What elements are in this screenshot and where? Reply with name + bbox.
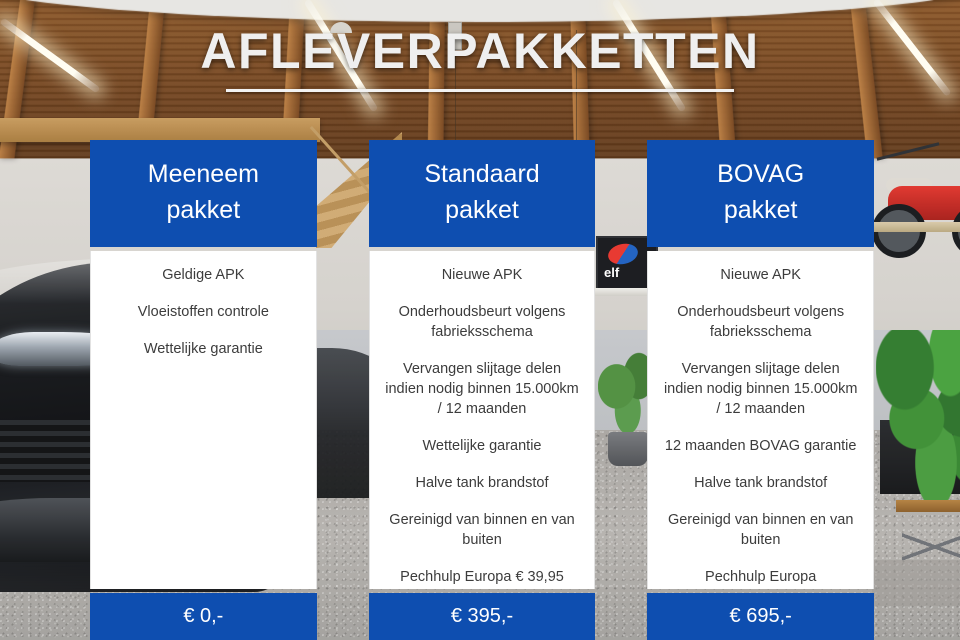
package-feature: Vloeistoffen controle [103,302,304,322]
package-feature: Wettelijke garantie [103,339,304,359]
package-feature: Vervangen slijtage delen indien nodig bi… [382,359,583,419]
package-feature: Nieuwe APK [660,265,861,285]
package-feature: 12 maanden BOVAG garantie [660,436,861,456]
package-feature: Pechhulp Europa € 39,95 [382,567,583,587]
page-root: elf AFLEVERPAKKETTEN Meeneem pakket Geld… [0,0,960,640]
package-title-line1: Meeneem [96,157,311,193]
package-feature-list: Nieuwe APK Onderhoudsbeurt volgens fabri… [647,251,874,589]
package-feature: Gereinigd van binnen en van buiten [382,510,583,550]
package-title-line1: BOVAG [653,157,868,193]
package-feature: Geldige APK [103,265,304,285]
package-feature: Onderhoudsbeurt volgens fabrieksschema [382,302,583,342]
package-title-line2: pakket [96,193,311,229]
package-feature: Gereinigd van binnen en van buiten [660,510,861,550]
package-price: € 395,- [369,593,596,640]
package-feature: Halve tank brandstof [660,473,861,493]
package-title-line1: Standaard [375,157,590,193]
package-feature: Nieuwe APK [382,265,583,285]
page-title: AFLEVERPAKKETTEN [0,22,960,80]
package-card-header: Meeneem pakket [90,140,317,247]
package-card-bovag[interactable]: BOVAG pakket Nieuwe APK Onderhoudsbeurt … [647,140,874,640]
package-card-meeneem[interactable]: Meeneem pakket Geldige APK Vloeistoffen … [90,140,317,640]
package-cards: Meeneem pakket Geldige APK Vloeistoffen … [90,140,874,640]
package-feature-list: Nieuwe APK Onderhoudsbeurt volgens fabri… [369,251,596,589]
package-title-line2: pakket [653,193,868,229]
package-feature: Onderhoudsbeurt volgens fabrieksschema [660,302,861,342]
package-card-header: BOVAG pakket [647,140,874,247]
package-feature: Halve tank brandstof [382,473,583,493]
package-card-header: Standaard pakket [369,140,596,247]
package-card-standaard[interactable]: Standaard pakket Nieuwe APK Onderhoudsbe… [369,140,596,640]
package-price: € 695,- [647,593,874,640]
package-feature: Vervangen slijtage delen indien nodig bi… [660,359,861,419]
package-feature-list: Geldige APK Vloeistoffen controle Wettel… [90,251,317,589]
title-divider [226,89,734,92]
package-feature: Wettelijke garantie [382,436,583,456]
package-title-line2: pakket [375,193,590,229]
package-price: € 0,- [90,593,317,640]
package-feature: Pechhulp Europa [660,567,861,587]
